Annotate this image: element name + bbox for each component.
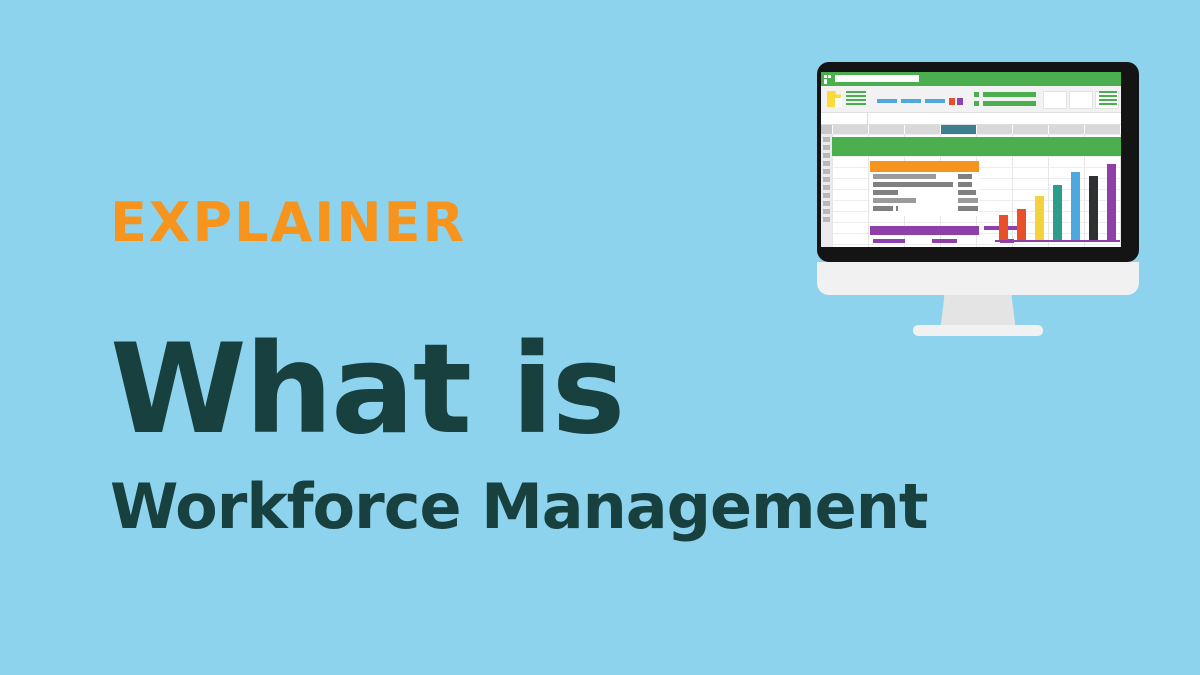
data-row-value: [958, 174, 972, 179]
color-swatch-purple[interactable]: [957, 98, 963, 105]
embedded-bar-chart[interactable]: [995, 160, 1120, 242]
column-header-a[interactable]: [833, 125, 869, 134]
color-swatch-orange[interactable]: [949, 98, 955, 105]
hamburger-menu-icon[interactable]: [1099, 91, 1117, 107]
sheet-banner: [832, 137, 1121, 156]
formula-input[interactable]: [871, 113, 1121, 124]
column-header-d-selected[interactable]: [941, 125, 977, 134]
column-header-g[interactable]: [1049, 125, 1085, 134]
row-header-column[interactable]: [821, 134, 832, 247]
row-header-cell[interactable]: [823, 137, 830, 142]
bullet-list-icon[interactable]: [974, 91, 1036, 107]
data-row-text: [896, 206, 898, 211]
style-cell-1[interactable]: [1043, 91, 1067, 109]
data-row-value: [958, 190, 976, 195]
data-row-text: [873, 174, 936, 179]
chart-axis-line: [995, 240, 1120, 242]
data-row-value: [958, 182, 972, 187]
row-header-cell[interactable]: [823, 169, 830, 174]
sheet-grid[interactable]: [821, 134, 1121, 247]
spreadsheet-app-logo: [824, 75, 832, 84]
row-header-cell[interactable]: [823, 201, 830, 206]
row-header-cell[interactable]: [823, 185, 830, 190]
row-header-cell[interactable]: [823, 153, 830, 158]
row-header-cell[interactable]: [823, 177, 830, 182]
select-all-corner[interactable]: [821, 125, 833, 134]
table-header-orange: [870, 161, 979, 172]
explainer-title-card: EXPLAINER What is Workforce Management: [0, 0, 1200, 675]
column-header-c[interactable]: [905, 125, 941, 134]
monitor-chin: [817, 262, 1139, 295]
monitor-stand-base: [913, 325, 1043, 336]
titlebar-filename-field[interactable]: [835, 75, 919, 82]
folder-icon-sheet: [835, 98, 842, 107]
column-header-f[interactable]: [1013, 125, 1049, 134]
column-header-e[interactable]: [977, 125, 1013, 134]
style-cell-2[interactable]: [1069, 91, 1093, 109]
desktop-monitor-illustration: [810, 62, 1146, 332]
ribbon-toolbar: [821, 86, 1121, 113]
app-titlebar: [821, 72, 1121, 86]
data-row-value: [958, 198, 978, 203]
chart-bar: [1035, 196, 1044, 240]
chart-bar: [1089, 176, 1098, 240]
row-header-cell[interactable]: [823, 217, 830, 222]
row-header-cell[interactable]: [823, 161, 830, 166]
column-header-h[interactable]: [1085, 125, 1121, 134]
eyebrow-label: EXPLAINER: [110, 196, 910, 250]
data-row-value: [958, 206, 978, 211]
chart-bar: [1071, 172, 1080, 240]
chart-bar: [999, 215, 1008, 240]
summary-row-bar: [932, 239, 957, 243]
data-table-body: [870, 172, 979, 216]
cell-grid[interactable]: [832, 134, 1121, 247]
row-header-cell[interactable]: [823, 193, 830, 198]
page-title: What is: [110, 328, 910, 452]
summary-row-bar: [873, 239, 905, 243]
format-pill-2[interactable]: [901, 99, 921, 103]
formula-bar: [821, 113, 1121, 125]
format-pill-3[interactable]: [925, 99, 945, 103]
row-header-cell[interactable]: [823, 209, 830, 214]
data-row-text: [873, 182, 953, 187]
format-pill-1[interactable]: [877, 99, 897, 103]
chart-bar: [1053, 185, 1062, 240]
data-row-text: [873, 206, 893, 211]
column-header-row: [821, 125, 1121, 134]
row-header-cell[interactable]: [823, 145, 830, 150]
chart-bar: [1107, 164, 1116, 240]
monitor-screen: [821, 72, 1121, 247]
page-subtitle: Workforce Management: [110, 476, 910, 538]
chart-bar: [1017, 209, 1026, 240]
summary-header-purple: [870, 226, 979, 235]
column-header-b[interactable]: [869, 125, 905, 134]
table-lines-icon[interactable]: [846, 91, 866, 107]
name-box[interactable]: [821, 113, 868, 124]
data-row-text: [873, 198, 916, 203]
text-block: EXPLAINER What is Workforce Management: [110, 196, 910, 538]
data-row-text: [873, 190, 898, 195]
